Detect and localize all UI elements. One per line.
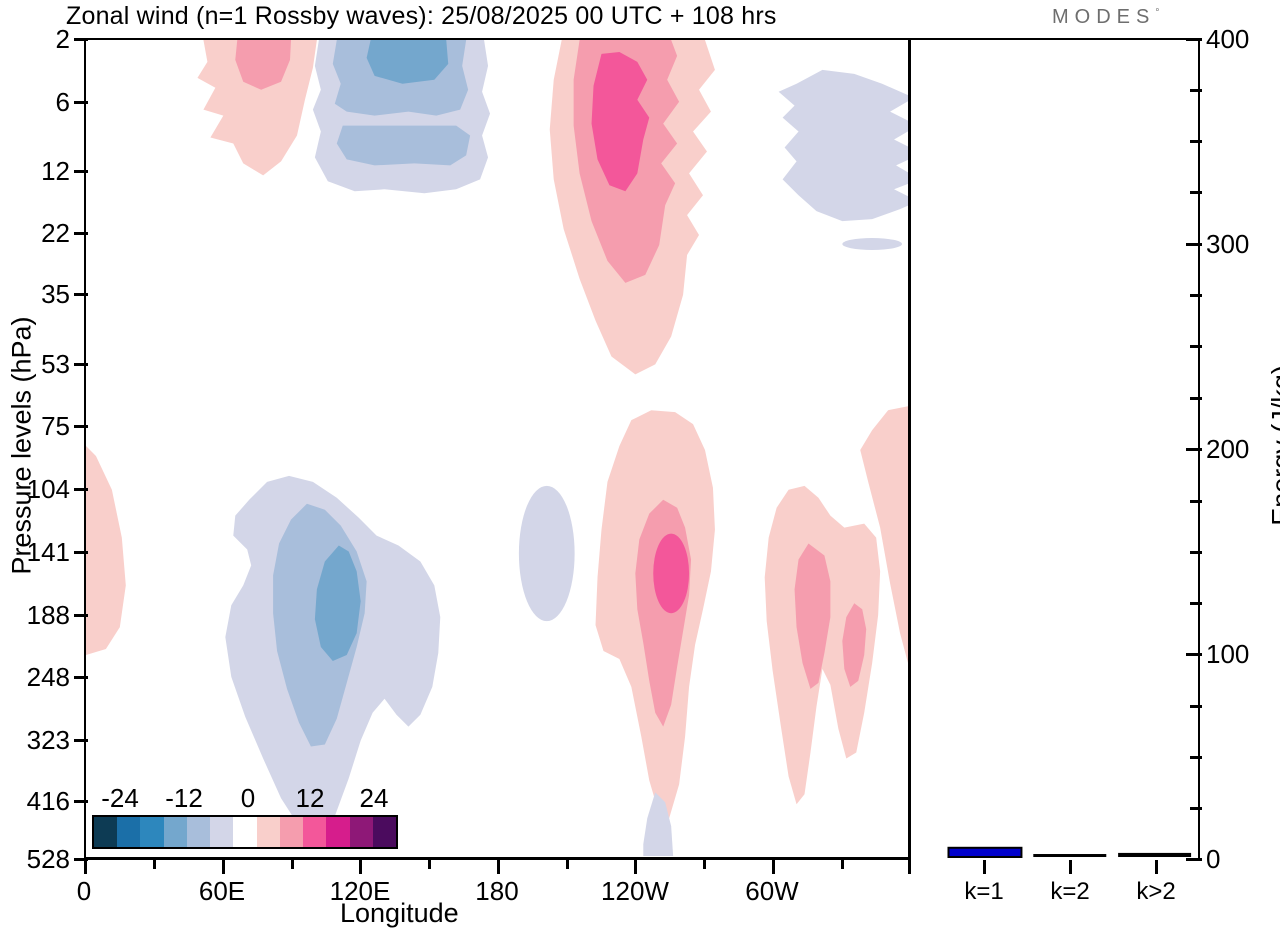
colorbar-tick-label: 24 [336,783,412,814]
r-tick-label: 0 [1206,844,1280,875]
x-tick [908,860,911,874]
colorbar-swatch-6 [233,817,256,847]
x-tick [291,860,294,869]
colorbar-swatch-2 [140,817,163,847]
y-tick [74,739,88,742]
y-tick-label: 22 [0,218,70,249]
x-axis-label: Longitude [340,898,459,929]
colorbar-swatch-1 [117,817,140,847]
energy-bars [911,40,1198,860]
r-tick [1190,140,1202,143]
colorbar-swatch-10 [326,817,349,847]
x-tick [841,860,844,869]
y-tick-label: 12 [0,156,70,187]
y-tick [74,232,88,235]
colorbar-swatch-7 [257,817,280,847]
x-tick [497,860,500,874]
energy-x-tick [983,860,986,874]
contour-band-negative-small-oval [519,486,575,621]
chart-page: Zonal wind (n=1 Rossby waves): 25/08/202… [0,0,1280,930]
r-tick [1186,653,1202,656]
x-tick [359,860,362,874]
modes-logo-mark: ° [1155,7,1159,18]
x-tick [153,860,156,869]
y-tick [74,676,88,679]
y-tick-label: 323 [0,725,70,756]
r-tick [1190,551,1202,554]
x-tick-label: 60E [182,876,262,907]
y-tick [74,293,88,296]
y-tick [74,38,88,41]
r-tick [1186,448,1202,451]
y-tick [74,551,88,554]
r-tick [1190,602,1202,605]
y-tick-label: 528 [0,844,70,875]
colorbar-swatch-4 [187,817,210,847]
r-tick [1190,756,1202,759]
contour-band-positive-lower-b [765,486,880,804]
energy-bar-label-kgt2: k>2 [1113,878,1199,906]
energy-bar-label-k2: k=2 [1027,878,1113,906]
r-tick [1186,858,1202,861]
energy-bar-k1 [948,848,1021,857]
r-tick-label: 300 [1206,229,1280,260]
x-tick [703,860,706,869]
r-tick [1190,345,1202,348]
r-tick [1190,807,1202,810]
y-tick-label: 416 [0,786,70,817]
y-tick-label: 6 [0,87,70,118]
r-tick-label: 400 [1206,24,1280,55]
colorbar-swatch-3 [164,817,187,847]
x-tick-label: 0 [44,876,124,907]
colorbar-swatches [92,815,398,849]
colorbar-swatch-8 [280,817,303,847]
contour-field [86,40,908,858]
energy-axis-label: Energy (J/kg) [1267,286,1280,606]
r-tick [1190,89,1202,92]
energy-bar-panel [909,38,1200,860]
energy-x-tick [1155,860,1158,874]
modes-logo-text: MODES [1052,6,1155,28]
x-tick-label: 120W [587,876,683,907]
colorbar-swatch-11 [350,817,373,847]
y-tick [74,363,88,366]
y-tick [74,425,88,428]
x-tick [84,860,87,874]
x-tick-label: 180 [457,876,537,907]
colorbar-swatch-9 [303,817,326,847]
colorbar-swatch-5 [210,817,233,847]
y-tick-label: 2 [0,24,70,55]
y-tick [74,488,88,491]
y-tick [74,101,88,104]
x-tick [222,860,225,874]
colorbar-swatch-0 [94,817,117,847]
r-tick [1186,243,1202,246]
r-tick [1190,294,1202,297]
contour-band-positive-left-edge [86,446,126,655]
modes-logo: MODES° [1052,6,1159,29]
x-tick [772,860,775,874]
energy-x-tick [1069,860,1072,874]
contour-band-negative-upper-right [779,70,908,250]
x-tick-label: 60W [732,876,812,907]
r-tick [1190,397,1202,400]
y-tick [74,614,88,617]
energy-bar-kgt2 [1118,853,1191,857]
r-tick [1190,705,1202,708]
y-axis-label: Pressure levels (hPa) [7,256,38,636]
energy-bar-label-k1: k=1 [941,878,1027,906]
y-tick-label: 248 [0,662,70,693]
x-tick [428,860,431,869]
colorbar-legend: -24 -12 0 12 24 [92,815,398,849]
contour-band-positive-center [550,40,715,374]
contour-band-negative-upper-middle [313,40,490,193]
r-tick [1190,191,1202,194]
contour-band-positive-lower-a [596,410,715,818]
colorbar-swatch-12 [373,817,396,847]
r-tick [1186,38,1202,41]
x-tick [634,860,637,874]
r-tick-label: 100 [1206,639,1280,670]
contour-band-positive-upper-left [197,40,316,175]
x-tick [566,860,569,869]
energy-bar-k2 [1033,854,1106,857]
page-title: Zonal wind (n=1 Rossby waves): 25/08/202… [66,2,777,31]
r-tick [1190,500,1202,503]
y-tick [74,170,88,173]
contour-plot-panel [84,38,910,860]
